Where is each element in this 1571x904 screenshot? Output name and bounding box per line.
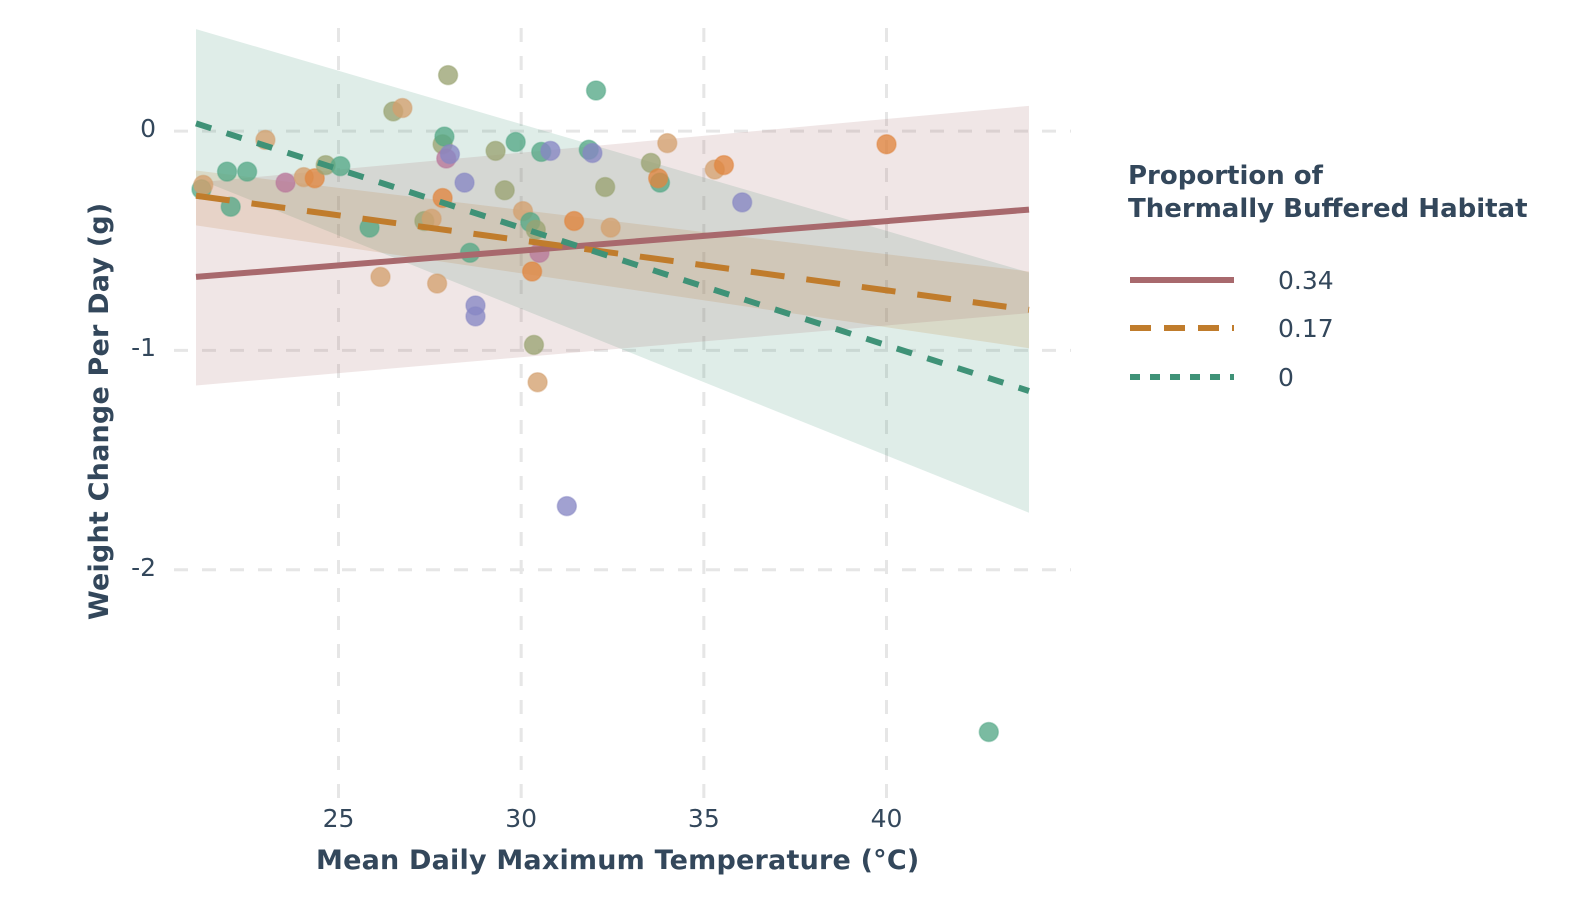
data-point	[435, 127, 454, 146]
x-tick-label: 40	[847, 804, 927, 833]
data-point	[649, 169, 668, 188]
data-point	[557, 497, 576, 516]
confidence-ribbons	[196, 29, 1029, 513]
x-tick-label: 30	[481, 804, 561, 833]
legend-entry-0[interactable]: 0	[1128, 357, 1294, 397]
y-tick-label: -2	[86, 553, 156, 582]
data-point	[276, 173, 295, 192]
x-axis-title: Mean Daily Maximum Temperature (°C)	[316, 845, 919, 876]
data-point	[587, 81, 606, 100]
legend-entry-0.34[interactable]: 0.34	[1128, 260, 1334, 300]
data-point	[428, 274, 447, 293]
legend-title-line-2: Thermally Buffered Habitat	[1128, 193, 1558, 226]
data-point	[877, 135, 896, 154]
data-point	[218, 162, 237, 181]
data-point	[439, 66, 458, 85]
legend-label-0.34: 0.34	[1278, 266, 1334, 295]
data-point	[486, 141, 505, 160]
data-point	[523, 262, 542, 281]
data-point	[541, 141, 560, 160]
legend-key-0.17	[1128, 308, 1236, 348]
data-point	[714, 156, 733, 175]
data-point	[583, 144, 602, 163]
chart-figure: Weight Change Per Day (g) Mean Daily Max…	[0, 0, 1571, 904]
legend-key-0.34	[1128, 260, 1236, 300]
data-point	[194, 175, 213, 194]
legend-entry-0.17[interactable]: 0.17	[1128, 308, 1334, 348]
data-point	[601, 218, 620, 237]
legend-key-0	[1128, 357, 1236, 397]
y-tick-label: -1	[86, 333, 156, 362]
data-point	[455, 173, 474, 192]
data-point	[528, 373, 547, 392]
legend-title: Proportion of Thermally Buffered Habitat	[1128, 160, 1558, 225]
data-point	[733, 193, 752, 212]
data-point	[596, 178, 615, 197]
x-tick-label: 35	[664, 804, 744, 833]
data-point	[393, 99, 412, 118]
legend-label-0: 0	[1278, 363, 1294, 392]
data-point	[466, 307, 485, 326]
legend-title-line-1: Proportion of	[1128, 160, 1558, 193]
data-point	[495, 181, 514, 200]
data-point	[979, 723, 998, 742]
data-point	[524, 335, 543, 354]
x-tick-label: 25	[298, 804, 378, 833]
data-point	[331, 157, 350, 176]
data-point	[238, 162, 257, 181]
legend-label-0.17: 0.17	[1278, 314, 1334, 343]
y-tick-label: 0	[86, 114, 156, 143]
data-point	[440, 145, 459, 164]
data-point	[565, 212, 584, 231]
data-point	[658, 134, 677, 153]
data-point	[506, 133, 525, 152]
data-point	[371, 267, 390, 286]
scatter-plot-canvas	[0, 0, 1571, 904]
